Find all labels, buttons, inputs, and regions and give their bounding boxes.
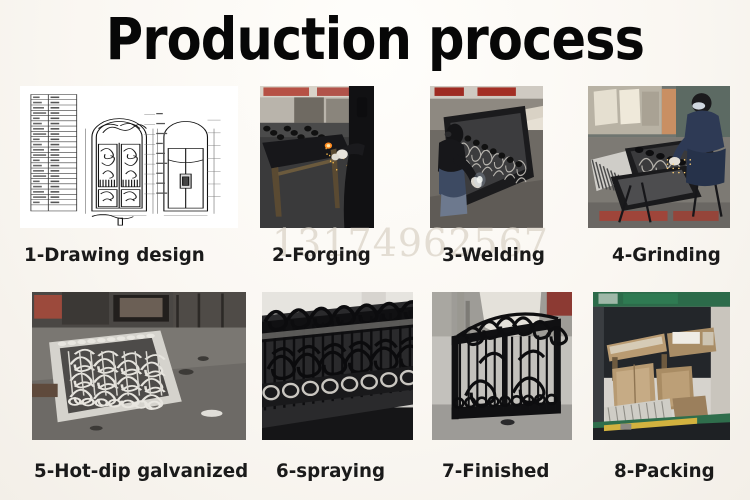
- step-caption-7: 7-Finished: [442, 460, 549, 482]
- production-process-poster: Production process 13174962567 1-Drawing…: [0, 0, 750, 500]
- photo-forging: [260, 86, 374, 228]
- photo-packing: [593, 292, 730, 440]
- step-caption-8: 8-Packing: [614, 460, 715, 482]
- photo-welding: [430, 86, 543, 228]
- step-caption-5: 5-Hot-dip galvanized: [34, 460, 248, 482]
- photo-finished: [432, 292, 572, 440]
- step-caption-3: 3-Welding: [442, 244, 545, 266]
- photo-spraying: [262, 292, 413, 440]
- step-caption-4: 4-Grinding: [612, 244, 721, 266]
- photo-hot-dip-galvanized: [32, 292, 246, 440]
- photo-grinding: [588, 86, 730, 228]
- step-caption-6: 6-spraying: [276, 460, 385, 482]
- photo-drawing-design: [20, 86, 238, 228]
- step-caption-2: 2-Forging: [272, 244, 371, 266]
- step-caption-1: 1-Drawing design: [24, 244, 205, 266]
- page-title: Production process: [45, 8, 705, 70]
